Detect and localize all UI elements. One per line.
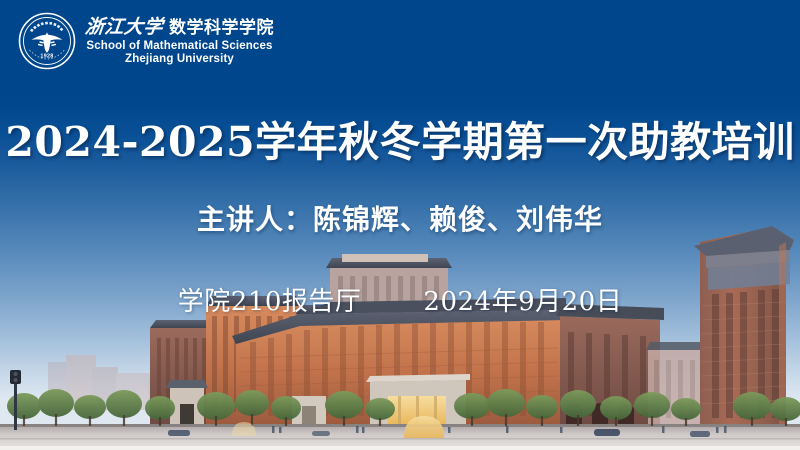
logo-school-name-cn: 数学科学学院: [169, 20, 274, 37]
poster-speakers: 主讲人：陈锦辉、赖俊、刘伟华: [0, 198, 800, 238]
poster-title: 2024-2025学年秋冬学期第一次助教培训: [0, 108, 800, 168]
poster-date: 2024年9月20日: [423, 281, 622, 318]
logo-university-name-en: Zhejiang University: [85, 54, 274, 66]
logo-university-name-cn: 浙江大学: [84, 18, 164, 37]
zju-school-logo: 1928 浙江大学 数学科学学院 School of Mathematical …: [18, 12, 274, 70]
logo-school-name-en: School of Mathematical Sciences: [85, 41, 274, 53]
training-announcement-poster: 1928 浙江大学 数学科学学院 School of Mathematical …: [0, 0, 800, 450]
poster-venue: 学院210报告厅: [178, 281, 362, 318]
logo-wordmark: 浙江大学 数学科学学院 School of Mathematical Scien…: [85, 17, 274, 66]
campus-buildings-photo: [0, 210, 800, 450]
poster-meta: 学院210报告厅 2024年9月20日: [0, 281, 800, 318]
zju-qiushi-eagle-seal-icon: 1928: [18, 12, 76, 70]
